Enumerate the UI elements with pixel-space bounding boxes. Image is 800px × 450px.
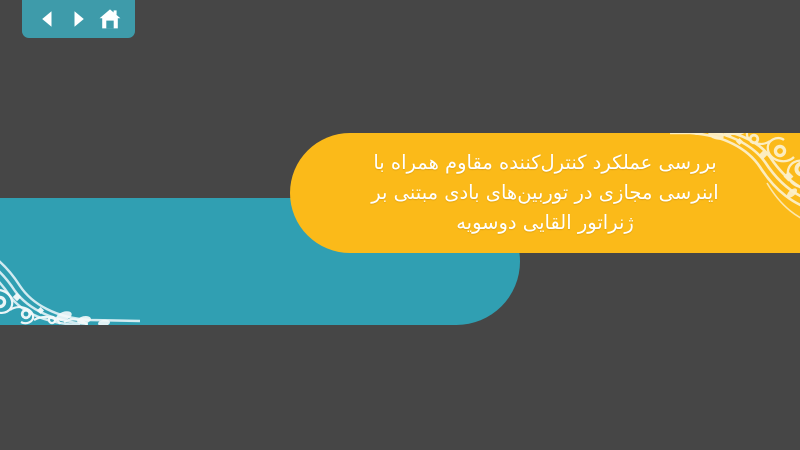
- next-slide-button[interactable]: [66, 6, 92, 32]
- orange-title-banner: [290, 133, 800, 253]
- presentation-slide: بررسی عملکرد کنترل‌کننده مقاوم همراه با …: [0, 0, 800, 450]
- triangle-left-icon: [36, 8, 58, 30]
- triangle-right-icon: [68, 8, 90, 30]
- slide-navigation-bar: [22, 0, 135, 38]
- previous-slide-button[interactable]: [34, 6, 60, 32]
- home-icon: [98, 7, 122, 31]
- arabesque-corner-ornament: [670, 133, 800, 253]
- home-slide-button[interactable]: [97, 6, 123, 32]
- arabesque-corner-ornament: [0, 198, 140, 325]
